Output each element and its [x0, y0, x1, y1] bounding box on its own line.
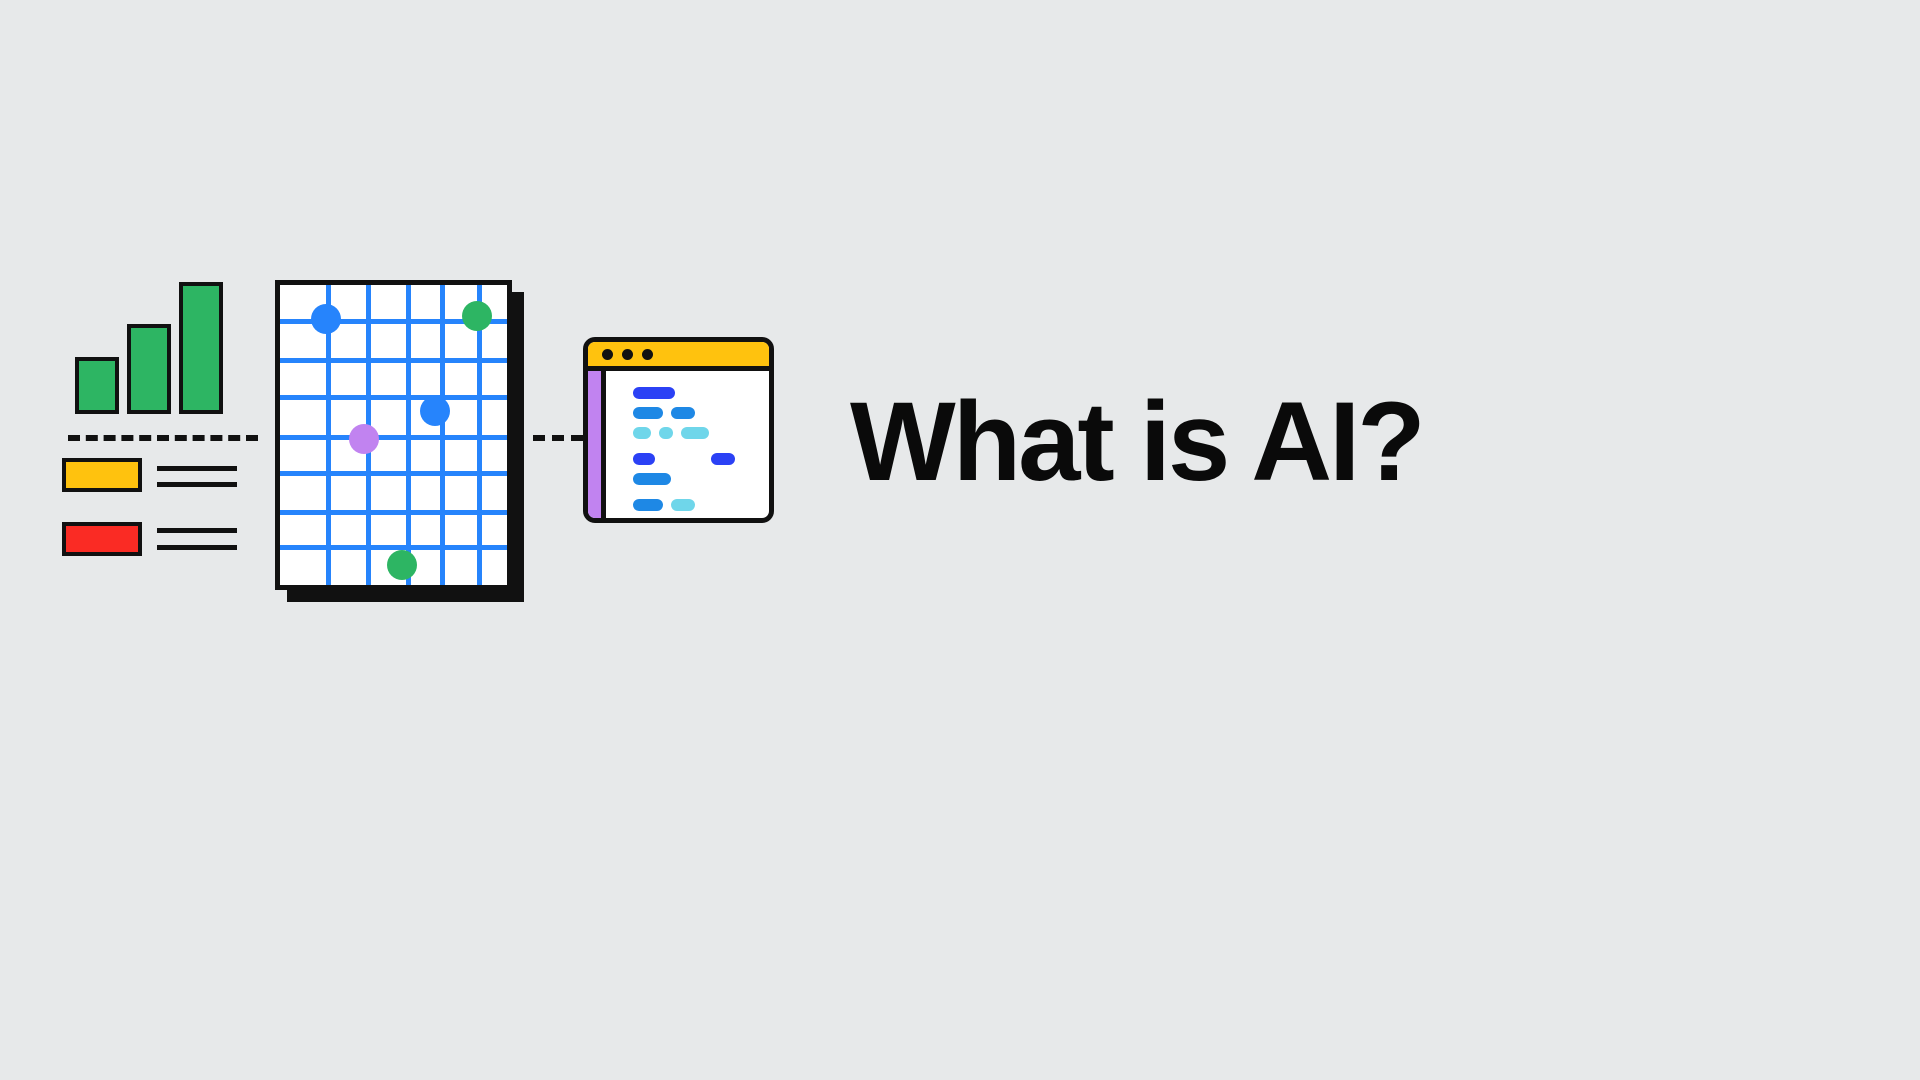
code-token-3-3: [681, 427, 709, 439]
grid-line-horizontal-6: [280, 510, 507, 515]
page-title: What is AI?: [850, 386, 1423, 498]
code-token-2-1: [633, 407, 663, 419]
code-token-6-2: [671, 499, 695, 511]
code-editor-window[interactable]: [583, 337, 774, 523]
scatter-grid-panel: [275, 280, 512, 590]
legend-line-red-2: [157, 545, 237, 550]
legend-line-yellow-1: [157, 466, 237, 471]
code-token-3-1: [633, 427, 651, 439]
window-maximize-icon[interactable]: [642, 349, 653, 360]
window-minimize-icon[interactable]: [622, 349, 633, 360]
dot-blue-top-left: [311, 304, 341, 334]
code-window-titlebar: [588, 342, 769, 371]
legend-line-yellow-2: [157, 482, 237, 487]
dashed-connector: [533, 435, 583, 441]
illustration-canvas: What is AI?: [0, 0, 1920, 1080]
code-token-5-1: [633, 473, 671, 485]
grid-line-horizontal-4: [280, 435, 507, 440]
window-close-icon[interactable]: [602, 349, 613, 360]
code-token-3-2: [659, 427, 673, 439]
dot-green-bottom: [387, 550, 417, 580]
grid-line-horizontal-5: [280, 471, 507, 476]
code-window-body: [611, 379, 769, 518]
legend-swatch-red: [62, 522, 142, 556]
legend-line-red-1: [157, 528, 237, 533]
dot-green-top-right: [462, 301, 492, 331]
code-token-2-2: [671, 407, 695, 419]
grid-line-horizontal-2: [280, 358, 507, 363]
chart-legend: [0, 0, 300, 600]
code-token-1-1: [633, 387, 675, 399]
grid-line-horizontal-3: [280, 395, 507, 400]
legend-swatch-yellow: [62, 458, 142, 492]
grid-line-horizontal-7: [280, 545, 507, 550]
code-token-4-2: [711, 453, 735, 465]
dot-blue-middle: [420, 396, 450, 426]
code-token-4-1: [633, 453, 655, 465]
code-token-6-1: [633, 499, 663, 511]
code-window-sidebar: [588, 371, 606, 518]
dot-purple-middle-left: [349, 424, 379, 454]
